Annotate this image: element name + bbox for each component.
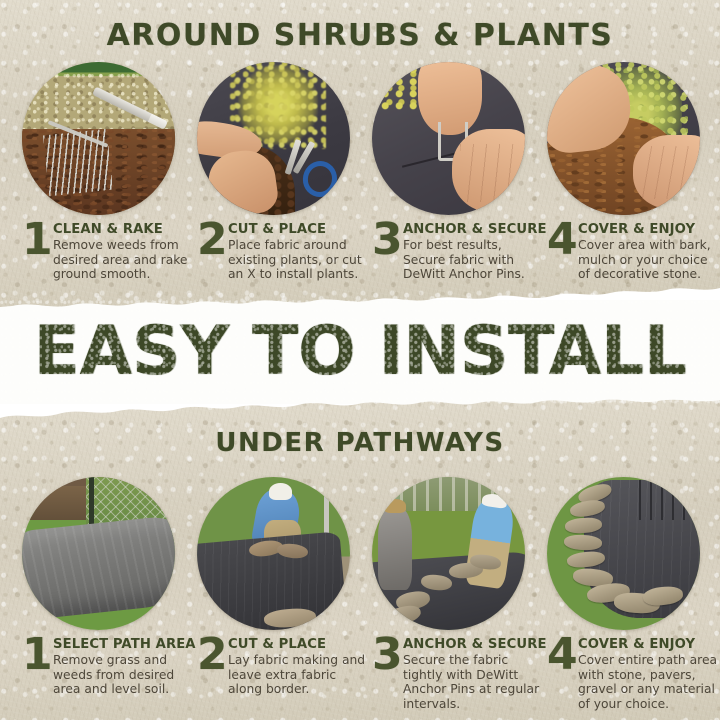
step-description: For best results, Secure fabric with DeW… [403,238,544,282]
step-number: 2 [197,218,228,262]
step-photo-path-cut-and-place [197,477,350,630]
step-description: Remove weeds from desired area and rake … [53,238,194,282]
section-title-under-pathways: UNDER PATHWAYS [0,428,720,458]
step-number: 4 [547,633,578,677]
step-number: 3 [372,218,403,262]
step-photo-select-path-area [22,477,175,630]
worker-cap [384,499,406,512]
step-block-top-3: 3 ANCHOR & SECURE For best results, Secu… [372,222,544,282]
center-banner: EASY TO INSTALL [0,300,720,404]
step-photo-cover-and-enjoy [547,62,700,215]
step-block-bottom-4: 4 COVER & ENJOY Cover entire path area w… [547,637,719,711]
scissor-handle [300,158,341,200]
step-block-bottom-2: 2 CUT & PLACE Lay fabric making and leav… [197,637,369,697]
step-heading: ANCHOR & SECURE [403,222,544,237]
step-description: Remove grass and weeds from desired area… [53,653,194,697]
infographic-canvas: AROUND SHRUBS & PLANTS [0,0,720,720]
step-description: Cover area with bark, mulch or your choi… [578,238,719,282]
step-number: 1 [22,633,53,677]
step-number: 2 [197,633,228,677]
step-block-bottom-3: 3 ANCHOR & SECURE Secure the fabric tigh… [372,637,544,711]
landscape-fabric-roll [22,514,175,621]
background-railing [639,480,694,520]
step-heading: ANCHOR & SECURE [403,637,544,652]
step-description: Cover entire path area with stone, paver… [578,653,719,711]
banner-title-easy-to-install: EASY TO INSTALL [0,318,720,386]
rake-tines [43,129,113,197]
worker-left [378,508,412,591]
step-heading: COVER & ENJOY [578,637,719,652]
step-block-top-1: 1 CLEAN & RAKE Remove weeds from desired… [22,222,194,282]
step-block-top-2: 2 CUT & PLACE Place fabric around existi… [197,222,369,282]
step-photo-cut-and-place [197,62,350,215]
step-block-top-4: 4 COVER & ENJOY Cover area with bark, mu… [547,222,719,282]
step-description: Secure the fabric tightly with DeWitt An… [403,653,544,711]
step-block-bottom-1: 1 SELECT PATH AREA Remove grass and weed… [22,637,194,697]
step-heading: CLEAN & RAKE [53,222,194,237]
step-photo-anchor-and-secure [372,62,525,215]
hand-right [633,135,700,208]
worker-cap [269,483,292,500]
step-photo-clean-and-rake [22,62,175,215]
dirt-strip [22,486,92,520]
step-number: 3 [372,633,403,677]
step-description: Place fabric around existing plants, or … [228,238,369,282]
hand-lower [452,129,525,212]
step-photo-path-anchor-and-secure [372,477,525,630]
step-heading: CUT & PLACE [228,637,369,652]
scissors [287,139,339,197]
step-photo-path-cover-and-enjoy [547,477,700,630]
section-title-around-shrubs: AROUND SHRUBS & PLANTS [0,18,720,53]
step-number: 1 [22,218,53,262]
step-number: 4 [547,218,578,262]
step-heading: SELECT PATH AREA [53,637,194,652]
path-stone [563,534,602,551]
step-heading: COVER & ENJOY [578,222,719,237]
step-heading: CUT & PLACE [228,222,369,237]
step-description: Lay fabric making and leave extra fabric… [228,653,369,697]
